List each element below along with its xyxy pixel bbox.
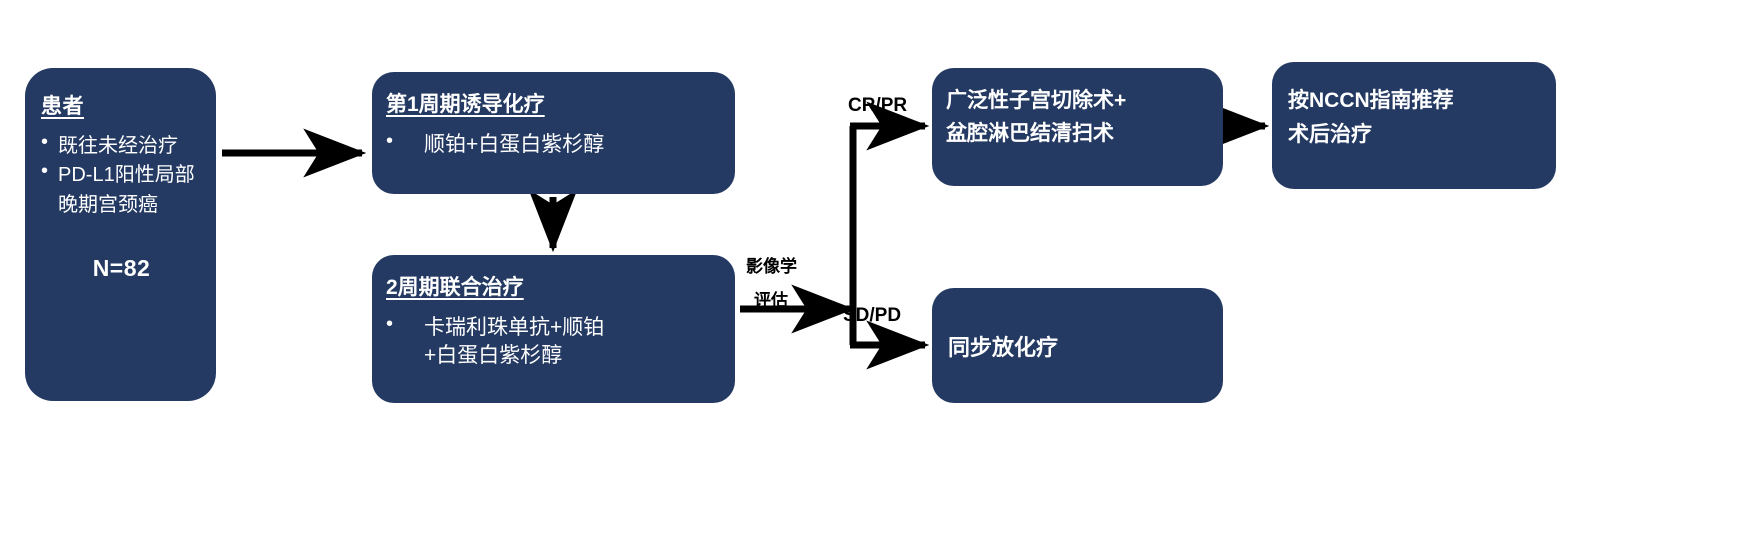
edge-label-imaging-line1: 影像学 — [746, 252, 797, 277]
node-patients[interactable]: 患者 • 既往未经治疗 • PD-L1阳性局部 晚期宫颈癌 N=82 — [25, 68, 216, 401]
node-ccrt-line1: 同步放化疗 — [948, 330, 1058, 362]
bullet-dot-icon: • — [386, 314, 424, 334]
node-patients-bullet-2: • PD-L1阳性局部 — [41, 161, 202, 189]
node-cycle1-induction-chemo[interactable]: 第1周期诱导化疗 • 顺铂+白蛋白紫杉醇 — [372, 72, 735, 194]
bullet-dot-icon: • — [41, 161, 58, 181]
node-patients-bullet-1: • 既往未经治疗 — [41, 132, 202, 160]
node-patients-bullet-1-text: 既往未经治疗 — [58, 132, 202, 160]
node-surgery-line1: 广泛性子宫切除术+ — [946, 85, 1213, 118]
node-nccn-line1: 按NCCN指南推荐 — [1288, 84, 1546, 118]
edge-label-sd-pd: SD/PD — [843, 305, 901, 327]
edge-label-imaging-line2: 评估 — [754, 286, 788, 311]
node-cycle2-title: 2周期联合治疗 — [386, 271, 723, 301]
node-cycle2-bullet-1: • 卡瑞利珠单抗+顺铂 — [386, 314, 723, 342]
node-patients-title: 患者 — [41, 90, 202, 120]
node-cycle1-bullet-1: • 顺铂+白蛋白紫杉醇 — [386, 131, 723, 158]
node-radical-hysterectomy[interactable]: 广泛性子宫切除术+ 盆腔淋巴结清扫术 — [932, 68, 1223, 186]
node-patients-bullet-2-continuation: 晚期宫颈癌 — [41, 191, 202, 219]
bullet-dot-icon: • — [386, 131, 424, 151]
node-concurrent-chemoradiotherapy[interactable]: 同步放化疗 — [932, 288, 1223, 403]
node-nccn-line2: 术后治疗 — [1288, 118, 1546, 152]
node-surgery-line2: 盆腔淋巴结清扫术 — [946, 118, 1213, 151]
bullet-dot-icon: • — [41, 132, 58, 152]
flowchart-canvas: CR/PR SD/PD 影像学 评估 患者 • 既往未经治疗 • PD-L1阳性… — [0, 0, 1738, 537]
node-patients-bullet-2-text: PD-L1阳性局部 — [58, 161, 202, 189]
node-patients-enrollment-count: N=82 — [41, 255, 202, 282]
node-nccn-adjuvant-therapy[interactable]: 按NCCN指南推荐 术后治疗 — [1272, 62, 1556, 189]
node-cycle1-bullet-1-text: 顺铂+白蛋白紫杉醇 — [424, 131, 723, 158]
edge-label-cr-pr: CR/PR — [848, 95, 907, 117]
node-cycle2-combination-therapy[interactable]: 2周期联合治疗 • 卡瑞利珠单抗+顺铂 +白蛋白紫杉醇 — [372, 255, 735, 403]
node-cycle2-bullet-1-text: 卡瑞利珠单抗+顺铂 — [424, 314, 723, 342]
node-cycle2-bullet-1-continuation: +白蛋白紫杉醇 — [386, 342, 723, 370]
node-cycle1-title: 第1周期诱导化疗 — [386, 88, 723, 118]
